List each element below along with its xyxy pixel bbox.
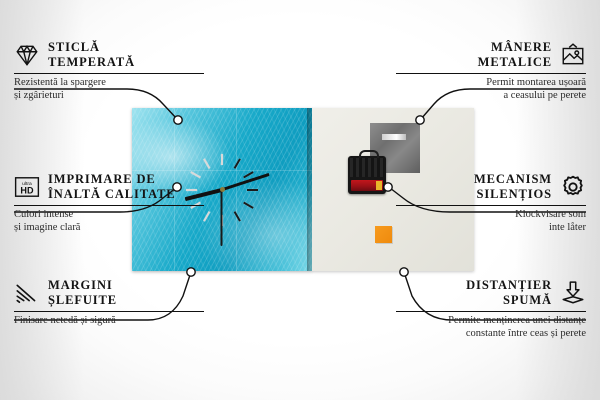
callout-sticla-temperata: STICLĂ TEMPERATĂ Rezistentă la spargere … (14, 40, 204, 102)
callout-description: Permit montarea ușoară a ceasului pe per… (396, 77, 586, 102)
callout-manere-metalice: MÂNERE METALICE Permit montarea ușoară a… (396, 40, 586, 102)
connector-endpoint-sticla (174, 116, 182, 124)
infographic-canvas: STICLĂ TEMPERATĂ Rezistentă la spargere … (0, 0, 600, 400)
callout-title: STICLĂ TEMPERATĂ (48, 40, 135, 69)
connector-endpoint-margini (187, 268, 195, 276)
callout-divider (396, 311, 586, 312)
callout-divider (14, 205, 204, 206)
callout-title: IMPRIMARE DE ÎNALTĂ CALITATE (48, 172, 176, 201)
callout-title: MÂNERE METALICE (478, 40, 552, 69)
connector-endpoint-distantier (400, 268, 408, 276)
callout-title: MECANISM SILENȚIOS (474, 172, 552, 201)
callout-description: Culori intense și imagine clară (14, 209, 204, 234)
callout-distantier-spuma: DISTANȚIER SPUMĂ Permite menținerea unei… (396, 278, 586, 340)
callout-description: Rezistentă la spargere și zgârieturi (14, 77, 204, 102)
callout-divider (396, 205, 586, 206)
arrow-onto-pad-icon (560, 280, 586, 306)
callout-description: Finisare netedă și sigură (14, 315, 204, 328)
connector-endpoint-mecanism (384, 183, 392, 191)
callout-title: DISTANȚIER SPUMĂ (466, 278, 552, 307)
callout-imprimare-hd: ultra HD IMPRIMARE DE ÎNALTĂ CALITATE Cu… (14, 172, 204, 234)
svg-text:HD: HD (20, 185, 34, 195)
callout-divider (396, 73, 586, 74)
callout-description: Permite menținerea unei distanțe constan… (396, 315, 586, 340)
diamond-icon (14, 42, 40, 68)
ultra-hd-icon: ultra HD (14, 174, 40, 200)
picture-hanger-icon (560, 42, 586, 68)
callout-divider (14, 311, 204, 312)
callout-divider (14, 73, 204, 74)
callout-margini-slefuite: MARGINI ȘLEFUITE Finisare netedă și sigu… (14, 278, 204, 328)
gear-icon (560, 174, 586, 200)
callout-title: MARGINI ȘLEFUITE (48, 278, 117, 307)
connector-endpoint-manere (416, 116, 424, 124)
callout-description: Klockvisare som inte låter (396, 209, 586, 234)
diagonal-lines-icon (14, 280, 40, 306)
callout-mecanism-silentios: MECANISM SILENȚIOS Klockvisare som inte … (396, 172, 586, 234)
